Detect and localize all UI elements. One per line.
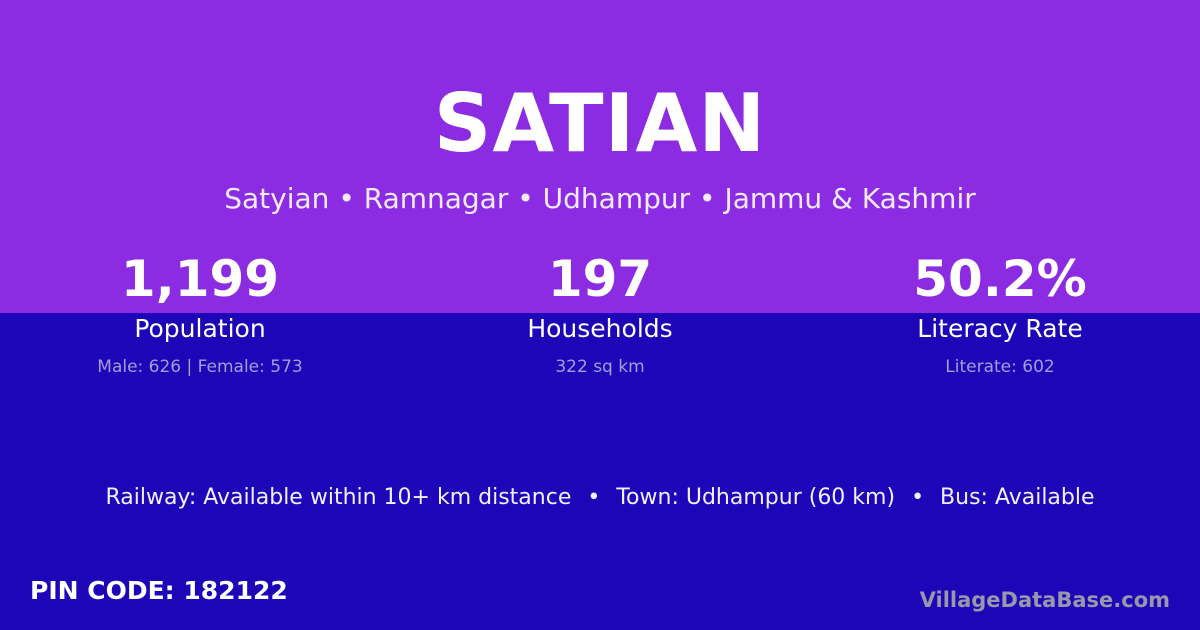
breadcrumb: Satyian • Ramnagar • Udhampur • Jammu & … bbox=[0, 181, 1200, 217]
village-info-card: SATIAN Satyian • Ramnagar • Udhampur • J… bbox=[0, 0, 1200, 630]
stat-population: 1,199 Population Male: 626 | Female: 573 bbox=[0, 248, 400, 379]
page-title: SATIAN bbox=[0, 82, 1200, 166]
stat-households-detail: 322 sq km bbox=[400, 355, 800, 379]
infrastructure-separator-1: • bbox=[578, 485, 609, 510]
infrastructure-town: Town: Udhampur (60 km) bbox=[616, 485, 895, 510]
infrastructure-bus: Bus: Available bbox=[940, 485, 1094, 510]
site-brand: VillageDataBase.com bbox=[920, 586, 1170, 614]
infrastructure-summary: Railway: Available within 10+ km distanc… bbox=[0, 483, 1200, 513]
stats-row: 1,199 Population Male: 626 | Female: 573… bbox=[0, 248, 1200, 379]
stat-households-label: Households bbox=[400, 313, 800, 345]
infrastructure-separator-2: • bbox=[902, 485, 933, 510]
stat-households: 197 Households 322 sq km bbox=[400, 248, 800, 379]
stat-literacy-rate: 50.2% Literacy Rate Literate: 602 bbox=[800, 248, 1200, 379]
stat-literacy-rate-label: Literacy Rate bbox=[800, 313, 1200, 345]
infrastructure-railway: Railway: Available within 10+ km distanc… bbox=[105, 485, 571, 510]
pin-code: PIN CODE: 182122 bbox=[30, 575, 288, 607]
stat-households-value: 197 bbox=[400, 248, 800, 310]
stat-literacy-rate-value: 50.2% bbox=[800, 248, 1200, 310]
stat-population-label: Population bbox=[0, 313, 400, 345]
stat-population-value: 1,199 bbox=[0, 248, 400, 310]
stat-population-detail: Male: 626 | Female: 573 bbox=[0, 355, 400, 379]
stat-literacy-rate-detail: Literate: 602 bbox=[800, 355, 1200, 379]
